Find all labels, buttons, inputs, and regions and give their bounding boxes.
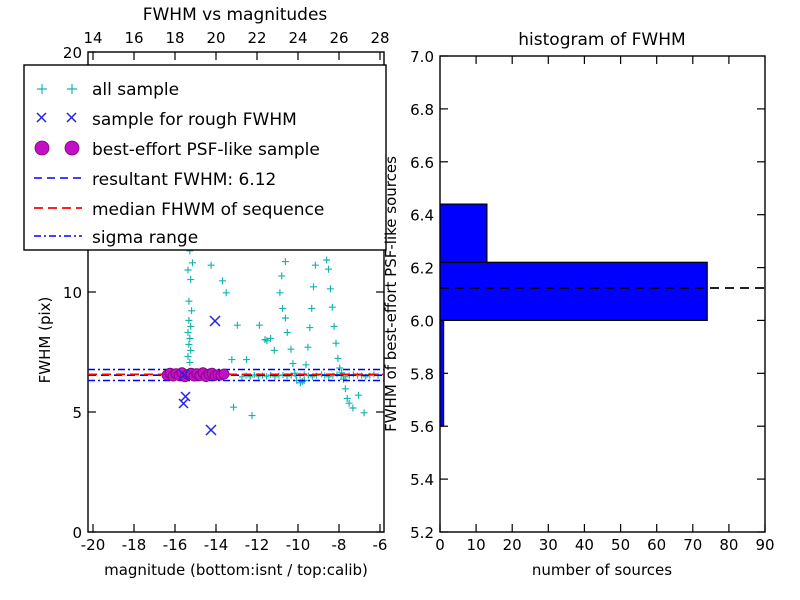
histogram-bar <box>440 204 487 262</box>
x-tick-label: 50 <box>611 536 630 554</box>
legend-label: resultant FWHM: 6.12 <box>92 170 276 190</box>
figure-canvas: FWHM vs magnitudes 14 16 18 20 22 24 26 … <box>0 0 800 600</box>
bottom-tick-label: -12 <box>245 536 270 554</box>
y-tick-label: 5 <box>72 404 82 422</box>
x-tick-label: 30 <box>539 536 558 554</box>
x-tick-label: 0 <box>435 536 445 554</box>
bottom-tick-label: -18 <box>122 536 147 554</box>
bottom-tick-label: -16 <box>163 536 188 554</box>
top-tick-label: 20 <box>206 29 225 47</box>
y-tick-label: 5.4 <box>410 471 434 489</box>
left-panel-title: FWHM vs magnitudes <box>143 5 328 25</box>
legend-label: sigma range <box>92 228 198 248</box>
left-panel-ylabel: FWHM (pix) <box>36 297 54 384</box>
top-tick-label: 16 <box>124 29 143 47</box>
legend-label: best-effort PSF-like sample <box>92 140 320 160</box>
y-tick-label: 20 <box>63 44 82 62</box>
left-panel-legend: all sample sample for rough FWHM best-ef… <box>24 65 386 250</box>
series-best-effort-psf <box>162 368 229 382</box>
right-panel: histogram of FWHM 5.2 <box>382 30 775 579</box>
top-tick-label: 28 <box>370 29 389 47</box>
bottom-tick-label: -20 <box>81 536 106 554</box>
x-tick-label: 80 <box>719 536 738 554</box>
top-tick-label: 24 <box>288 29 307 47</box>
right-panel-x-tick-labels: 0 10 20 30 40 50 60 70 80 90 <box>435 536 774 554</box>
right-panel-title: histogram of FWHM <box>518 30 685 50</box>
x-tick-label: 20 <box>503 536 522 554</box>
y-tick-label: 5.2 <box>410 524 434 542</box>
y-tick-label: 6.4 <box>410 207 434 225</box>
right-panel-xlabel: number of sources <box>532 561 672 579</box>
y-tick-label: 5.8 <box>410 365 434 383</box>
legend-label: median FHWM of sequence <box>92 200 324 220</box>
left-panel-top-ticks <box>93 52 380 60</box>
y-tick-label: 6.0 <box>410 312 434 330</box>
x-tick-label: 70 <box>683 536 702 554</box>
y-tick-label: 6.8 <box>410 101 434 119</box>
y-tick-label: 7.0 <box>410 48 434 66</box>
y-tick-label: 6.2 <box>410 260 434 278</box>
x-tick-label: 10 <box>467 536 486 554</box>
top-tick-label: 18 <box>165 29 184 47</box>
bottom-tick-label: -6 <box>373 536 388 554</box>
histogram-bar <box>440 320 444 426</box>
right-panel-ylabel: FWHM of best-effort PSF-like sources <box>382 156 400 432</box>
legend-label: all sample <box>92 80 179 100</box>
histogram-bar <box>440 262 707 320</box>
x-tick-label: 90 <box>755 536 774 554</box>
right-panel-plot-area <box>440 204 765 426</box>
left-panel-bottom-tick-labels: -20 -18 -16 -14 -12 -10 -8 -6 <box>81 536 388 554</box>
bottom-tick-label: -8 <box>332 536 347 554</box>
left-panel-top-tick-labels: 14 16 18 20 22 24 26 28 <box>83 29 389 47</box>
left-panel-xlabel: magnitude (bottom:isnt / top:calib) <box>104 561 368 579</box>
top-tick-label: 22 <box>247 29 266 47</box>
bottom-tick-label: -10 <box>286 536 311 554</box>
left-panel: FWHM vs magnitudes 14 16 18 20 22 24 26 … <box>24 5 390 579</box>
y-tick-label: 5.6 <box>410 418 434 436</box>
y-tick-label: 0 <box>72 524 82 542</box>
legend-label: sample for rough FWHM <box>92 110 297 130</box>
top-tick-label: 26 <box>329 29 348 47</box>
y-tick-label: 6.6 <box>410 154 434 172</box>
bottom-tick-label: -14 <box>204 536 229 554</box>
x-tick-label: 40 <box>575 536 594 554</box>
y-tick-label: 10 <box>63 284 82 302</box>
x-tick-label: 60 <box>647 536 666 554</box>
top-tick-label: 14 <box>83 29 102 47</box>
left-panel-bottom-ticks <box>93 524 380 532</box>
right-panel-y-tick-labels: 5.2 5.4 5.6 5.8 6.0 6.2 6.4 6.6 6.8 7.0 <box>410 48 434 542</box>
